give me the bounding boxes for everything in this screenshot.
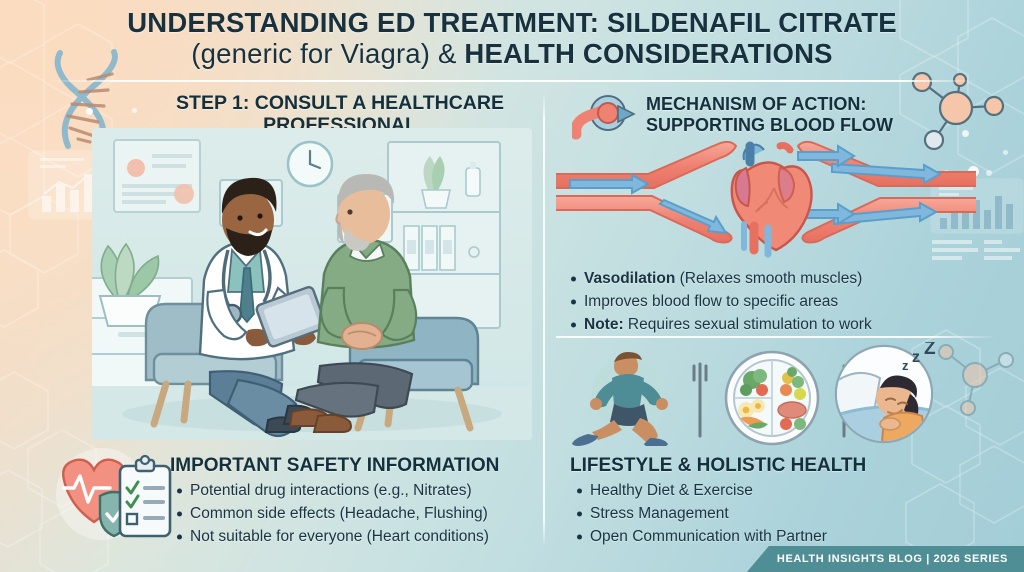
footer-badge: HEALTH INSIGHTS BLOG | 2026 SERIES — [747, 546, 1024, 572]
list-item: Common side effects (Headache, Flushing) — [176, 503, 556, 526]
mechanism-bullet-list: Vasodilation (Relaxes smooth muscles) Im… — [570, 268, 970, 337]
doctor-patient-consultation-illustration — [92, 128, 532, 440]
vertical-divider — [543, 92, 545, 547]
bullet-bold-lead: Note: — [584, 316, 624, 333]
title-generic-text: (generic for Viagra) — [191, 38, 438, 69]
bullet-text: Open Communication with Partner — [590, 528, 827, 545]
clipboard-icon — [120, 456, 170, 536]
running-person-icon — [572, 352, 668, 446]
title-ampersand: & — [438, 38, 464, 69]
svg-text:Z: Z — [924, 342, 936, 359]
title-health-considerations: HEALTH CONSIDERATIONS — [464, 38, 832, 69]
page-title: UNDERSTANDING ED TREATMENT: SILDENAFIL C… — [0, 8, 1024, 70]
safety-bullet-list: Potential drug interactions (e.g., Nitra… — [176, 480, 556, 548]
lifestyle-icon-row: z z Z — [566, 342, 966, 446]
heart-shield-clipboard-icon — [44, 444, 176, 548]
title-line-1: UNDERSTANDING ED TREATMENT: SILDENAFIL C… — [0, 8, 1024, 39]
infographic-poster: UNDERSTANDING ED TREATMENT: SILDENAFIL C… — [0, 0, 1024, 572]
mechanism-heading: MECHANISM OF ACTION: SUPPORTING BLOOD FL… — [646, 94, 946, 135]
bullet-text: (Relaxes smooth muscles) — [675, 270, 862, 287]
list-item: Note: Requires sexual stimulation to wor… — [570, 314, 970, 337]
svg-text:z: z — [912, 349, 920, 366]
list-item: Improves blood flow to specific areas — [570, 291, 970, 314]
title-divider — [48, 80, 976, 82]
blood-flow-arrow-icon — [572, 92, 642, 140]
blood-vessel-and-heart-diagram — [556, 138, 976, 266]
footer-text: HEALTH INSIGHTS BLOG | 2026 SERIES — [777, 553, 1008, 565]
sparkle-dots — [1003, 150, 1008, 155]
svg-text:z: z — [902, 358, 909, 373]
sparkle-dots — [86, 108, 93, 115]
healthy-meal-plate-icon — [694, 352, 849, 444]
title-line-2: (generic for Viagra) & HEALTH CONSIDERAT… — [0, 39, 1024, 70]
list-item: Not suitable for everyone (Heart conditi… — [176, 526, 556, 549]
bullet-text: Common side effects (Headache, Flushing) — [190, 505, 488, 522]
bullet-text: Improves blood flow to specific areas — [584, 293, 838, 310]
mechanism-heading-line-1: MECHANISM OF ACTION: — [646, 94, 946, 115]
list-item: Potential drug interactions (e.g., Nitra… — [176, 480, 556, 503]
list-item: Stress Management — [576, 503, 956, 526]
list-item: Vasodilation (Relaxes smooth muscles) — [570, 268, 970, 291]
bullet-text: Requires sexual stimulation to work — [624, 316, 872, 333]
bullet-text: Healthy Diet & Exercise — [590, 482, 753, 499]
mechanism-heading-line-2: SUPPORTING BLOOD FLOW — [646, 115, 946, 136]
list-item: Healthy Diet & Exercise — [576, 480, 956, 503]
bullet-text: Stress Management — [590, 505, 729, 522]
bullet-bold-lead: Vasodilation — [584, 270, 675, 287]
safety-heading: IMPORTANT SAFETY INFORMATION — [170, 455, 499, 477]
sparkle-dots — [962, 130, 969, 137]
sparkle-dots — [986, 170, 992, 176]
bullet-text: Potential drug interactions (e.g., Nitra… — [190, 482, 472, 499]
lifestyle-bullet-list: Healthy Diet & Exercise Stress Managemen… — [576, 480, 956, 548]
bullet-text: Not suitable for everyone (Heart conditi… — [190, 528, 489, 545]
sparkle-dots — [132, 108, 137, 113]
lifestyle-heading: LIFESTYLE & HOLISTIC HEALTH — [570, 455, 866, 477]
list-item: Open Communication with Partner — [576, 526, 956, 549]
